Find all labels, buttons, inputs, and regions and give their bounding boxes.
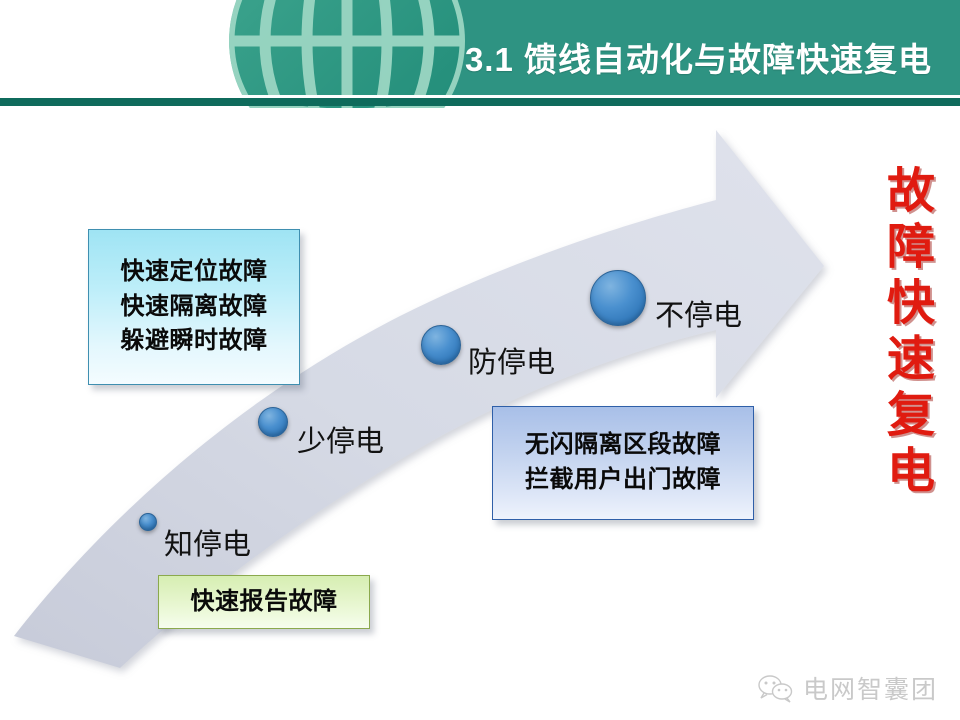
- callout-line: 快速报告故障: [191, 585, 338, 620]
- watermark: 电网智囊团: [756, 670, 938, 706]
- vtitle-char: 复: [876, 388, 946, 444]
- header-rule: [0, 98, 960, 106]
- slide-header: 3.1 馈线自动化与故障快速复电: [0, 0, 960, 108]
- vtitle-char: 电: [876, 444, 946, 500]
- vtitle-char: 速: [876, 332, 946, 388]
- vertical-emphasis-title: 故 障 快 速 复 电: [876, 164, 946, 500]
- watermark-text: 电网智囊团: [803, 670, 938, 706]
- globe-grid-icon: [222, 0, 472, 108]
- callout-line: 快速定位故障: [121, 255, 268, 290]
- upward-curved-arrow: [0, 108, 960, 720]
- vtitle-char: 快: [876, 276, 946, 332]
- stage-label-less: 少停电: [297, 418, 384, 460]
- callout-line: 躲避瞬时故障: [121, 324, 268, 359]
- callout-isolation-box: 无闪隔离区段故障 拦截用户出门故障: [492, 406, 754, 520]
- callout-line: 快速隔离故障: [121, 290, 268, 325]
- vtitle-char: 障: [876, 220, 946, 276]
- stage-node-less: [258, 407, 288, 437]
- stage-label-know: 知停电: [164, 521, 251, 563]
- wechat-logo-icon: [756, 673, 794, 703]
- slide-canvas: 3.1 馈线自动化与故障快速复电 知停电 少停电 防停电 不停电 快速定位故障 …: [0, 0, 960, 720]
- stage-label-none: 不停电: [655, 292, 742, 334]
- page-title: 3.1 馈线自动化与故障快速复电: [465, 40, 932, 80]
- stage-node-none: [590, 270, 646, 326]
- callout-report-box: 快速报告故障: [158, 575, 370, 629]
- stage-label-prevent: 防停电: [468, 339, 555, 381]
- callout-capability-box: 快速定位故障 快速隔离故障 躲避瞬时故障: [88, 229, 300, 385]
- stage-node-prevent: [421, 325, 461, 365]
- callout-line: 拦截用户出门故障: [525, 463, 721, 498]
- callout-line: 无闪隔离区段故障: [525, 428, 721, 463]
- vtitle-char: 故: [876, 164, 946, 220]
- stage-node-know: [139, 513, 157, 531]
